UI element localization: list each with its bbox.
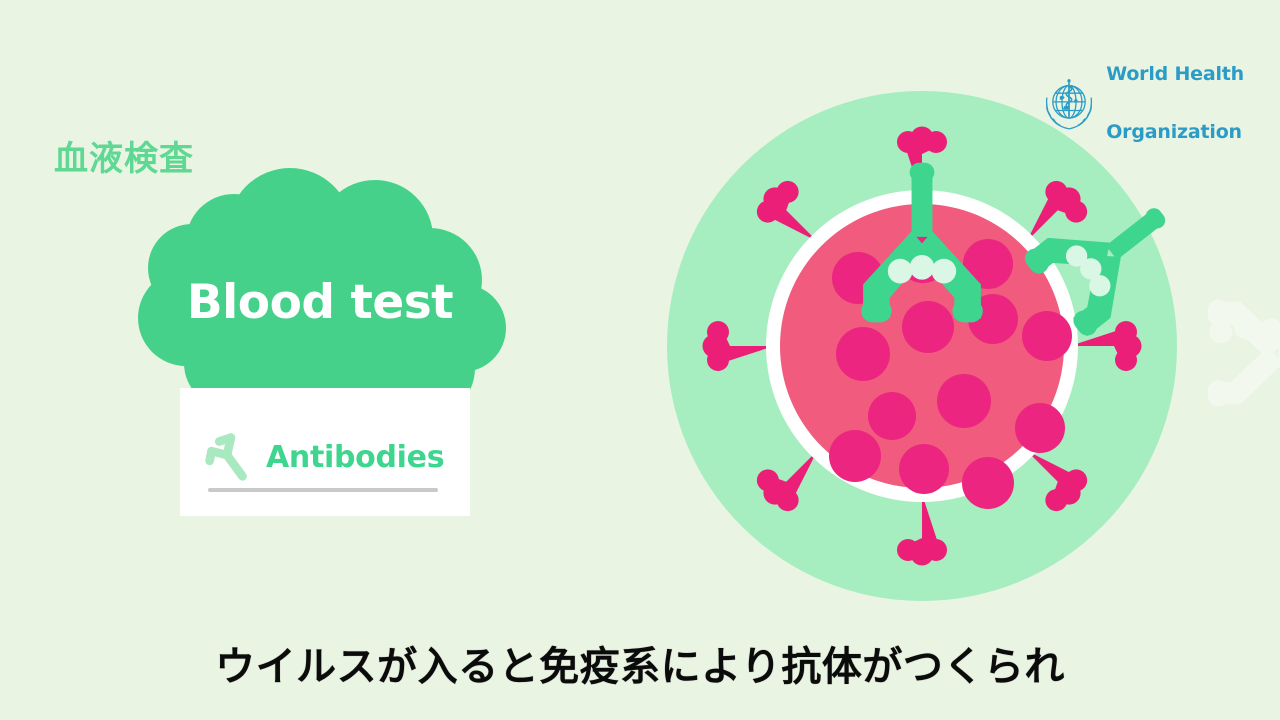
antibodies-card: Antibodies	[180, 388, 470, 516]
antibodies-label: Antibodies	[266, 440, 444, 475]
subtitle-caption: ウイルスが入ると免疫系により抗体がつくられ	[0, 634, 1280, 692]
antibodies-card-row: Antibodies	[198, 428, 444, 486]
antibody-icon	[198, 428, 256, 486]
who-emblem-icon	[1042, 77, 1096, 131]
who-org-line1: World Health	[1106, 65, 1244, 84]
video-frame: World Health Organization 血液検査 Blood	[0, 0, 1280, 720]
who-org-line2: Organization	[1106, 123, 1244, 142]
who-wordmark: World Health Organization	[1106, 26, 1244, 181]
who-logo: World Health Organization	[1042, 26, 1244, 181]
antibody-right-faded	[1208, 299, 1280, 407]
antibodies-card-divider	[208, 488, 438, 492]
